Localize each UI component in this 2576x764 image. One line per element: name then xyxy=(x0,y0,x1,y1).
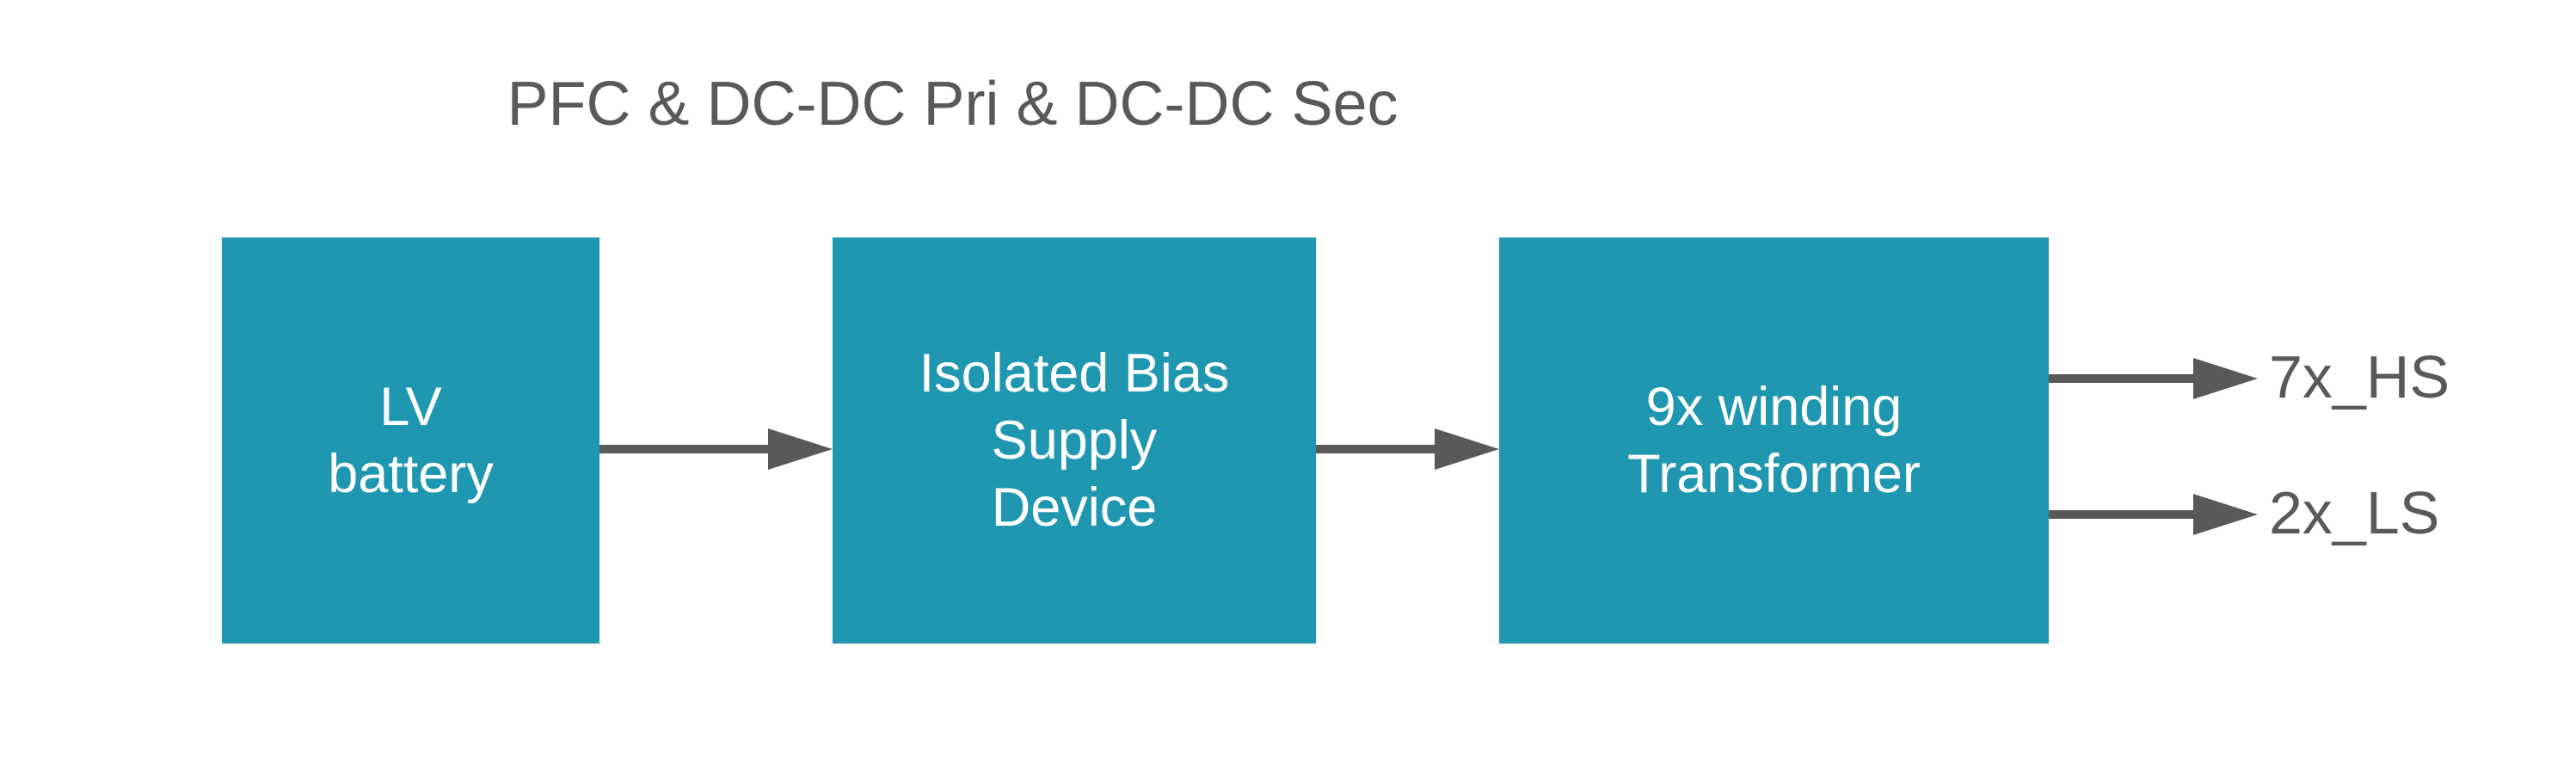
arrow-battery-to-bias-supply xyxy=(599,422,833,477)
block-isolated-bias-supply-device-label: Isolated Bias Supply Device xyxy=(913,340,1237,541)
page-title: PFC & DC-DC Pri & DC-DC Sec xyxy=(0,67,1905,141)
output-label-ls: 2x_LS xyxy=(2269,477,2439,549)
block-lv-battery[interactable]: LV battery xyxy=(222,237,599,644)
diagram-canvas: PFC & DC-DC Pri & DC-DC Sec LV battery I… xyxy=(0,0,2576,764)
block-isolated-bias-supply-device[interactable]: Isolated Bias Supply Device xyxy=(833,237,1316,644)
arrow-bias-supply-to-transformer xyxy=(1316,422,1499,477)
block-lv-battery-label: LV battery xyxy=(321,373,501,508)
arrow-transformer-to-hs-output xyxy=(2049,351,2258,406)
block-9x-winding-transformer[interactable]: 9x winding Transformer xyxy=(1499,237,2049,644)
arrow-transformer-to-ls-output xyxy=(2049,487,2258,542)
block-9x-winding-transformer-label: 9x winding Transformer xyxy=(1620,373,1927,508)
output-label-hs: 7x_HS xyxy=(2269,341,2450,413)
